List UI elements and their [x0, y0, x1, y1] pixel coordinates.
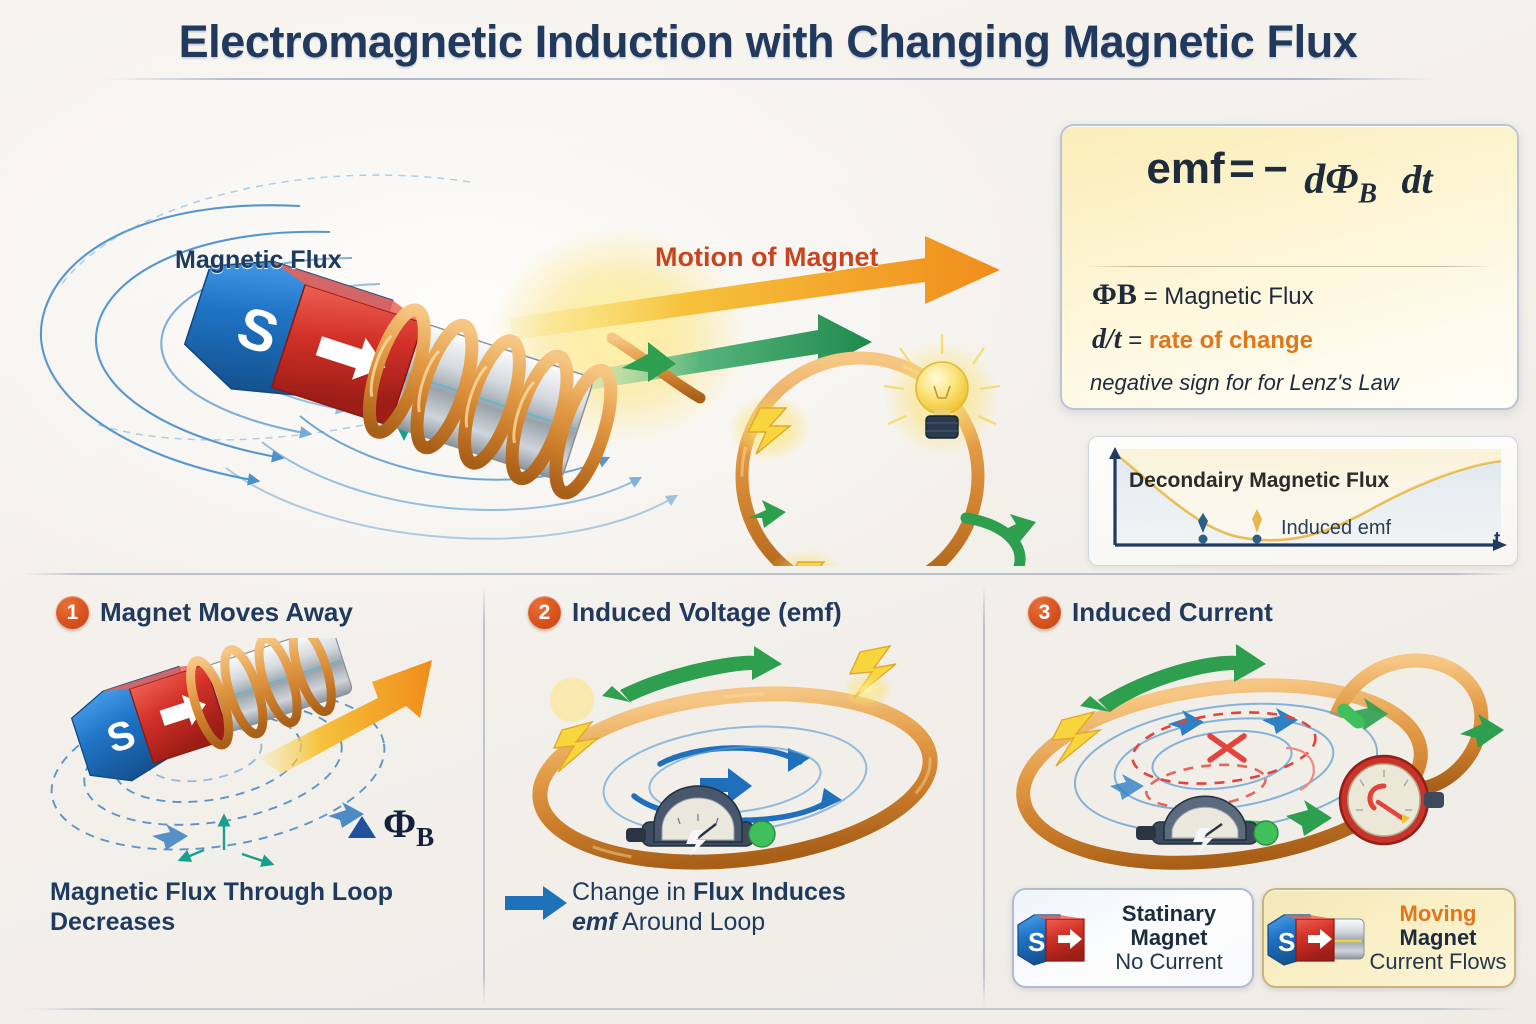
panel-1-caption: Magnetic Flux Through Loop Decreases [50, 878, 480, 937]
panel-2-caption-emf: emf [572, 908, 616, 936]
panel-3-red-swirl [1286, 748, 1314, 790]
graph-flux-label: Decondairy Magnetic Flux [1129, 469, 1389, 493]
circuit-loop [728, 334, 1036, 566]
panel-3-title: Induced Current [1072, 597, 1273, 628]
chip-1-line1: Statinary [1092, 902, 1246, 926]
formula-fraction: dΦB dt [1296, 156, 1432, 210]
panel-divider-2 [983, 586, 985, 1006]
panel-2-caption-arrow [505, 886, 567, 920]
graph-axis-label-t: t [1494, 529, 1500, 551]
panel-2-caption-bold: Flux Induces [693, 878, 846, 906]
hero-svg: S [0, 86, 1050, 566]
panel-1-caption-line2: Decreases [50, 908, 480, 938]
formula-legend-flux: ΦB = Magnetic Flux [1092, 278, 1314, 312]
formula-denominator: dt [1402, 157, 1433, 202]
hero-illustration: S [0, 86, 1050, 566]
panel-2-caption-line2: emf Around Loop [572, 908, 972, 938]
legend-equals-1: = [1144, 283, 1158, 310]
hero-motion-label: Motion of Magnet [655, 242, 878, 273]
legend-flux-text: Magnetic Flux [1164, 283, 1313, 310]
section-divider-horizontal [24, 573, 1512, 575]
panel-2-caption-part1: Change in [572, 878, 693, 906]
panel-2-art [500, 638, 970, 878]
flux-emf-graph-inset: Decondairy Magnetic Flux Induced emf t [1088, 436, 1518, 566]
panel-1-caption-line1: Magnetic Flux Through Loop [50, 878, 480, 908]
spark-icon-left [728, 394, 812, 462]
panel-1-header: 1 Magnet Moves Away [56, 596, 353, 629]
panel-2-caption-line1: Change in Flux Induces [572, 878, 972, 908]
panel-3-art [1000, 638, 1512, 888]
panel-2-title: Induced Voltage (emf) [572, 597, 842, 628]
chip-2-line1: Moving [1368, 902, 1508, 926]
title-bar: Electromagnetic Induction with Changing … [0, 0, 1536, 80]
chip-1-pole-label: S [1028, 927, 1045, 957]
legend-dt-symbol: d/t [1092, 324, 1122, 355]
panel-1-magnet-coil: S [67, 638, 359, 792]
panel-2-caption-part2: Around Loop [616, 908, 765, 936]
panel-2-svg [500, 638, 970, 878]
legend-rate-text: rate of change [1149, 327, 1313, 354]
graph-emf-label: Induced emf [1281, 517, 1391, 540]
delta-phi-sub: B [416, 822, 434, 852]
panel-2-header: 2 Induced Voltage (emf) [528, 596, 842, 629]
chip-2-text: Moving Magnet Current Flows [1368, 902, 1514, 975]
formula-legend-rate: d/t = rate of change [1092, 324, 1313, 356]
stationary-magnet-icon: S [1014, 903, 1092, 973]
title-divider [104, 78, 1434, 80]
chip-1-line2: Magnet [1092, 926, 1246, 950]
legend-equals-2: = [1128, 327, 1142, 354]
formula-num-sub: B [1358, 178, 1377, 209]
panel-divider-1 [483, 586, 485, 1006]
panel-3-galvanometer-icon [1136, 796, 1278, 854]
formula-numerator: dΦB [1296, 157, 1385, 205]
legend-chip-moving-magnet: S Moving Magnet Current Flows [1262, 888, 1516, 988]
formula-equals: = [1229, 144, 1255, 193]
legend-phi-symbol: Φ [1092, 278, 1117, 311]
formula-num-phi: Φ [1325, 157, 1358, 203]
hero-flux-label: Magnetic Flux [175, 246, 342, 275]
chip-1-text: Statinary Magnet No Current [1092, 902, 1252, 975]
legend-chip-stationary-magnet: S Statinary Magnet No Current [1012, 888, 1254, 988]
chip-2-line2: Magnet [1368, 926, 1508, 950]
panel-3-ammeter-icon [1340, 756, 1444, 844]
panel-3-green-segments [1236, 710, 1358, 828]
panel-2-caption: Change in Flux Induces emf Around Loop [572, 878, 972, 937]
step-badge-3: 3 [1028, 596, 1061, 629]
delta-triangle-icon [348, 816, 376, 838]
panel-3-x-marker [1210, 736, 1244, 760]
legend-phi-sub: B [1117, 278, 1137, 311]
panel-3-svg [1000, 638, 1512, 888]
chip-2-pole-label: S [1278, 927, 1295, 957]
panel-induced-voltage: 2 Induced Voltage (emf) [500, 586, 970, 1016]
moving-magnet-icon: S [1264, 903, 1368, 973]
step-badge-2: 2 [528, 596, 561, 629]
chip-2-line3: Current Flows [1368, 950, 1508, 974]
delta-flux-symbol: ΦB [383, 800, 434, 853]
formula-box: emf = − dΦB dt ΦB = Magnetic Flux d/t = … [1060, 124, 1519, 410]
delta-phi-glyph: Φ [383, 801, 416, 846]
panel-1-title: Magnet Moves Away [100, 597, 353, 628]
flux-emf-graph-svg [1089, 437, 1517, 565]
panel-2-spark-right [842, 646, 896, 708]
delta-flux-label: ΦB [348, 800, 434, 853]
formula-legend-lenz: negative sign for for Lenz's Law [1090, 370, 1399, 396]
formula-separator [1084, 266, 1495, 267]
light-bulb-icon [884, 334, 1000, 456]
step-badge-1: 1 [56, 596, 89, 629]
formula-num-d: d [1304, 157, 1325, 203]
panel-1-teal-arrows [180, 816, 272, 864]
chip-1-line3: No Current [1092, 950, 1246, 974]
panel-3-header: 3 Induced Current [1028, 596, 1273, 629]
formula-equation: emf = − dΦB dt [1062, 144, 1517, 206]
formula-minus: − [1259, 145, 1292, 192]
panel-2-glow-dot [550, 678, 594, 722]
diagram-root: Electromagnetic Induction with Changing … [0, 0, 1536, 1024]
page-title: Electromagnetic Induction with Changing … [0, 16, 1536, 68]
formula-emf: emf [1146, 144, 1224, 193]
